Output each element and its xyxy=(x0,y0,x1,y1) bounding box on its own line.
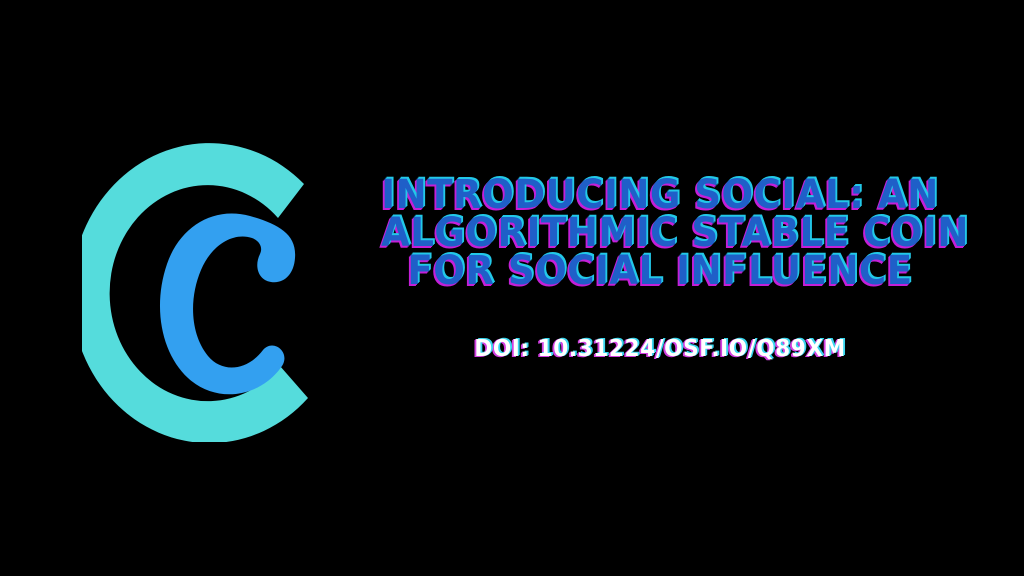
title-line-2: Algorithmic Stable Coin xyxy=(381,214,939,252)
title-line-3: for Social Influence xyxy=(381,252,939,290)
logo-outer-c-shape xyxy=(82,143,308,442)
double-c-logo-icon xyxy=(82,140,358,442)
title-slide: Introducing SOCIAL: An Algorithmic Stabl… xyxy=(0,0,1024,576)
title-line-1: Introducing SOCIAL: An xyxy=(381,176,939,214)
logo-inner-c-shape xyxy=(160,213,295,394)
slide-text-block: Introducing SOCIAL: An Algorithmic Stabl… xyxy=(360,176,960,362)
doi-text: DOI: 10.31224/osf.io/q89xm xyxy=(378,336,942,362)
page-title: Introducing SOCIAL: An Algorithmic Stabl… xyxy=(381,176,939,290)
brand-logo xyxy=(82,140,358,442)
